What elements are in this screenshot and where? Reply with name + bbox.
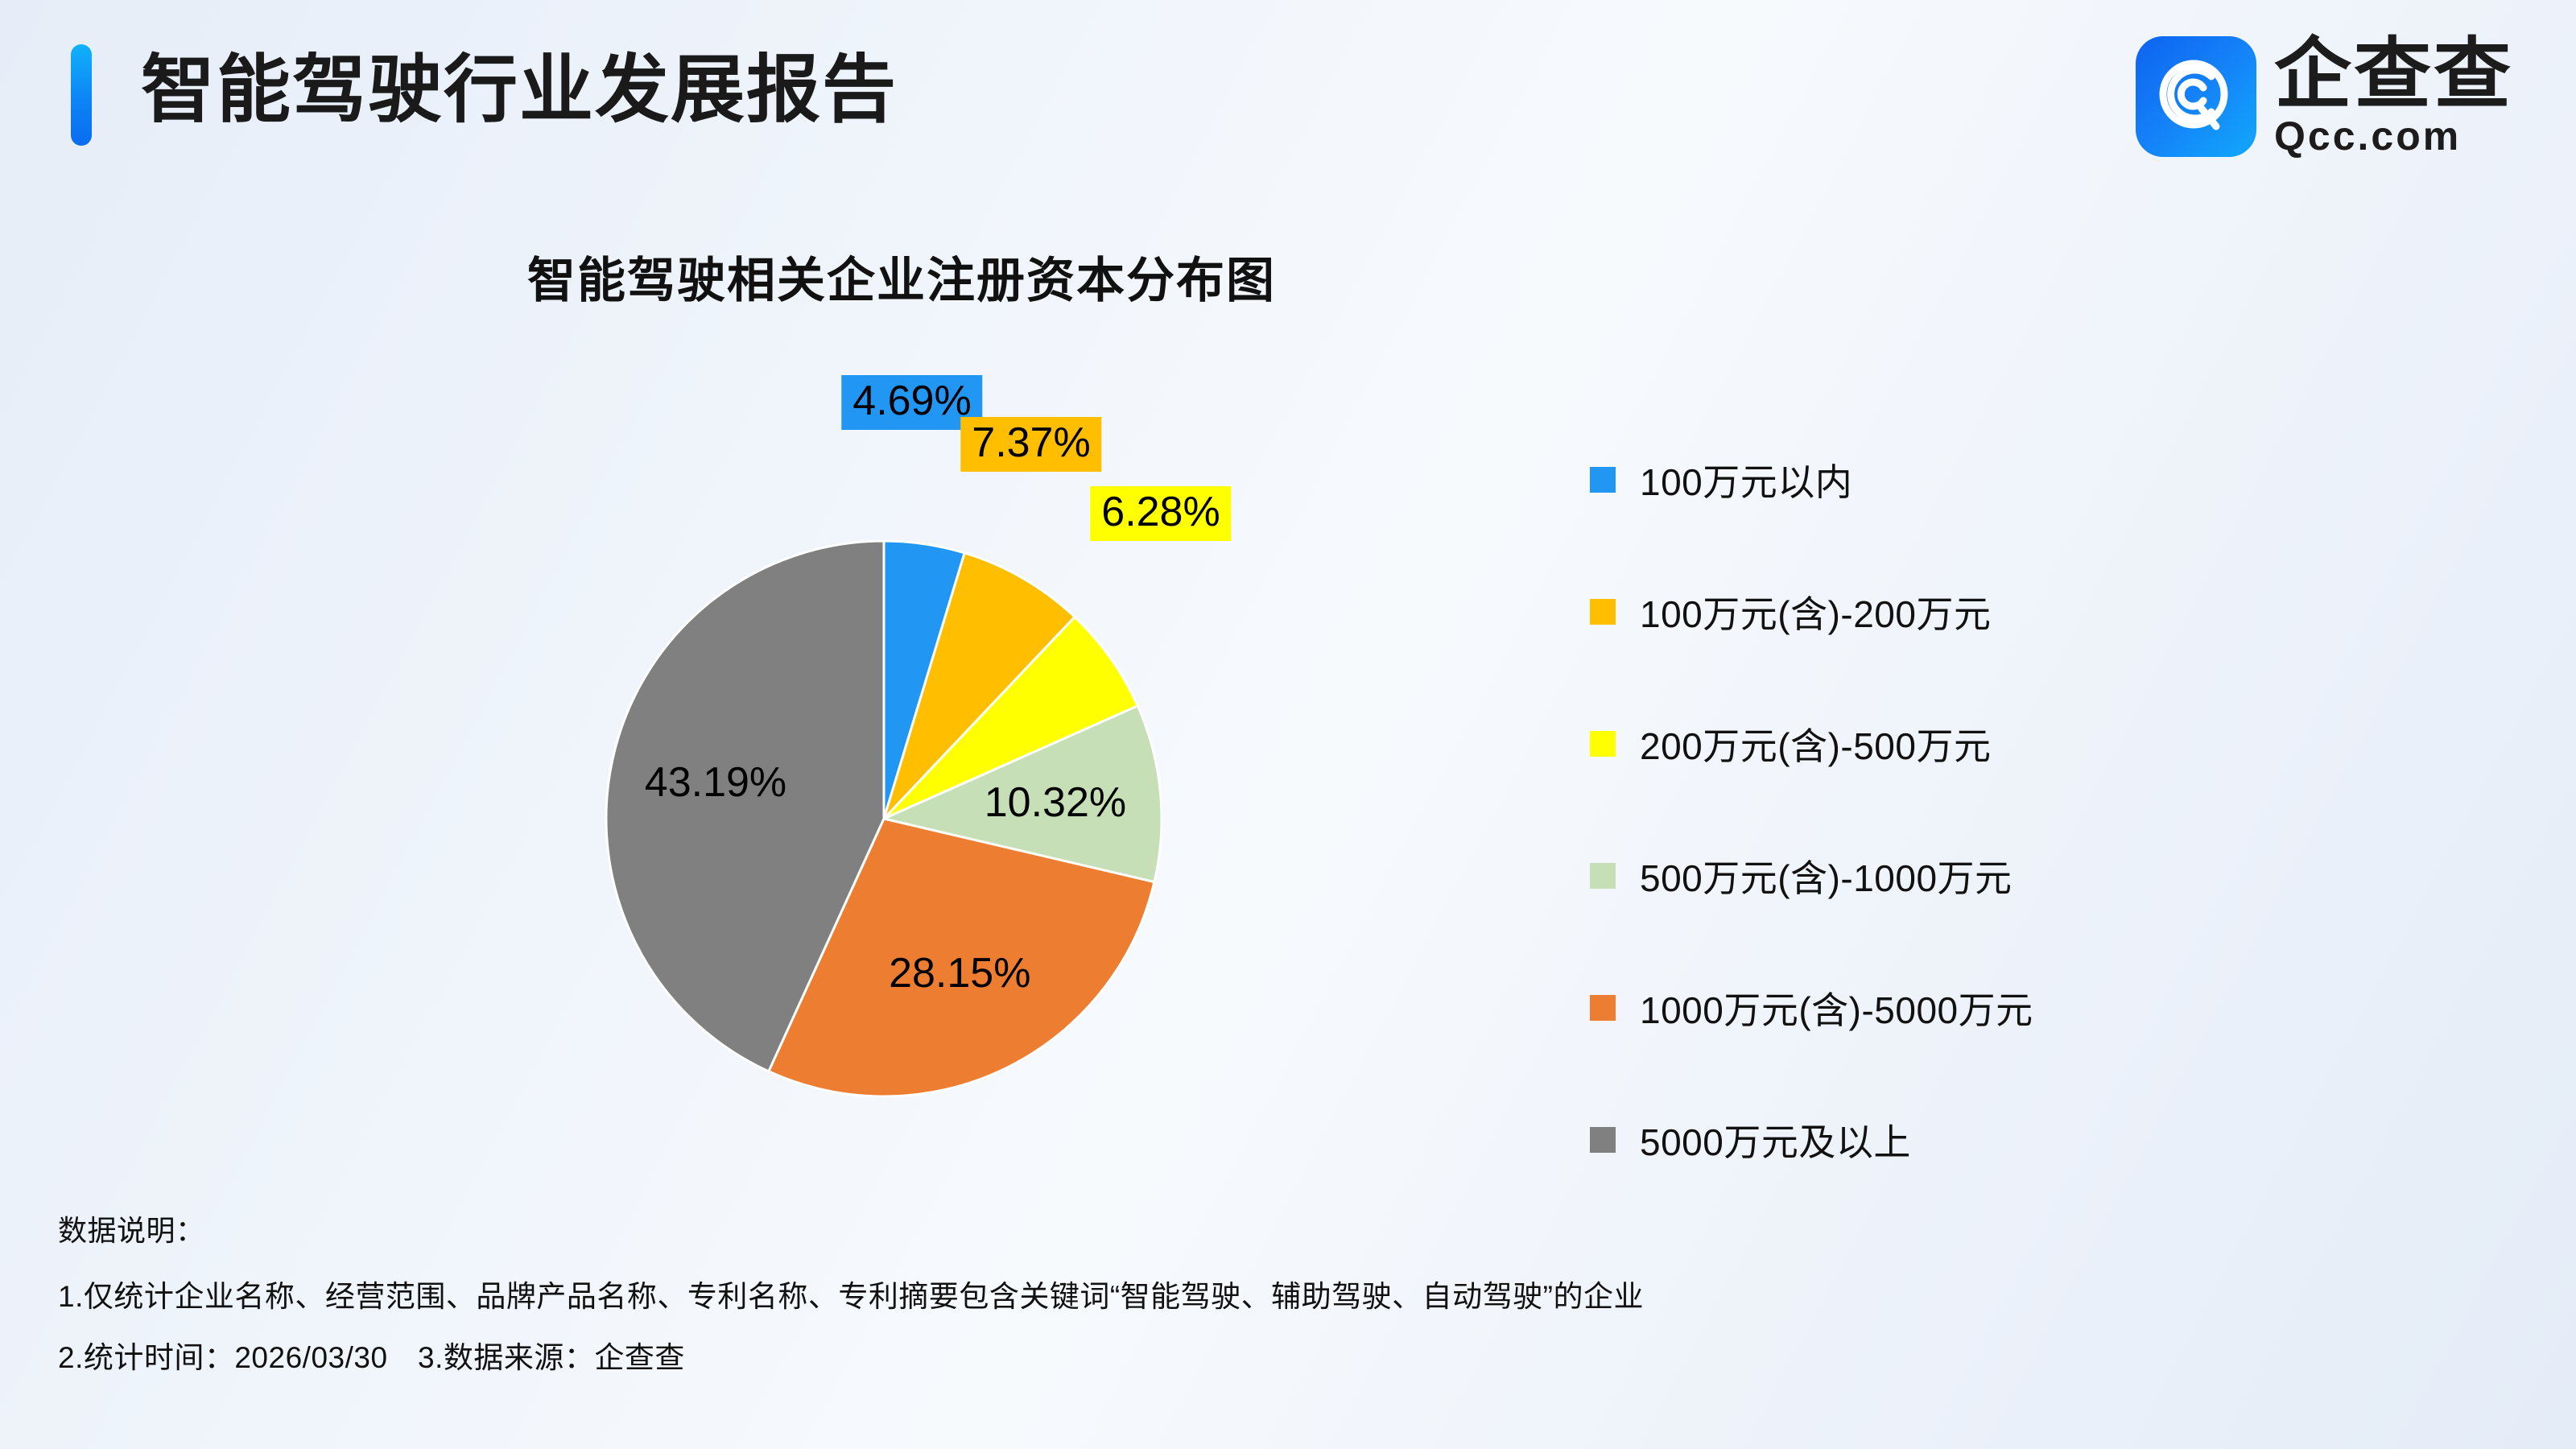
data-notes: 数据说明： 1.仅统计企业名称、经营范围、品牌产品名称、专利名称、专利摘要包含关… <box>58 1207 2513 1394</box>
legend-item[interactable]: 1000万元(含)-5000万元 <box>1590 975 2033 1041</box>
legend-swatch-icon <box>1590 599 1616 625</box>
brand-name-en: Qcc.com <box>2274 114 2461 158</box>
brand-logo-text: 企查查 Qcc.com <box>2274 35 2513 158</box>
brand-name-cn: 企查查 <box>2274 35 2513 114</box>
legend-label: 200万元(含)-500万元 <box>1640 717 1991 770</box>
pie-slice-label: 6.28% <box>1090 486 1231 541</box>
legend-item[interactable]: 100万元(含)-200万元 <box>1590 579 2033 645</box>
legend-label: 100万元以内 <box>1640 453 1852 506</box>
legend-item[interactable]: 5000万元及以上 <box>1590 1107 2033 1173</box>
chart-legend: 100万元以内100万元(含)-200万元200万元(含)-500万元500万元… <box>1590 447 2033 1239</box>
legend-label: 1000万元(含)-5000万元 <box>1640 981 2033 1034</box>
pie-slice-label: 28.15% <box>889 949 1030 997</box>
qcc-logo-icon <box>2136 36 2256 157</box>
brand-logo: 企查查 Qcc.com <box>2136 35 2513 158</box>
legend-swatch-icon <box>1590 863 1616 889</box>
legend-label: 100万元(含)-200万元 <box>1640 585 1991 638</box>
legend-swatch-icon <box>1590 467 1616 493</box>
legend-swatch-icon <box>1590 995 1616 1021</box>
pie-slice-label: 43.19% <box>645 758 786 807</box>
notes-heading: 数据说明： <box>58 1207 2513 1249</box>
chart-title: 智能驾驶相关企业注册资本分布图 <box>0 242 1803 312</box>
legend-item[interactable]: 200万元(含)-500万元 <box>1590 711 2033 777</box>
legend-swatch-icon <box>1590 731 1616 757</box>
pie-slice-label: 7.37% <box>960 417 1101 472</box>
pie-slice-label: 10.32% <box>985 778 1126 827</box>
legend-swatch-icon <box>1590 1127 1616 1153</box>
page-title: 智能驾驶行业发展报告 <box>141 40 898 140</box>
page-header: 智能驾驶行业发展报告 企查查 Qcc.com <box>0 0 2576 185</box>
note-line: 2.统计时间：2026/03/30 3.数据来源：企查查 <box>58 1333 2513 1377</box>
legend-label: 5000万元及以上 <box>1640 1113 1911 1166</box>
note-line: 1.仅统计企业名称、经营范围、品牌产品名称、专利名称、专利摘要包含关键词“智能驾… <box>58 1272 2513 1315</box>
title-accent-bar <box>71 44 92 146</box>
legend-label: 500万元(含)-1000万元 <box>1640 849 2013 902</box>
legend-item[interactable]: 500万元(含)-1000万元 <box>1590 843 2033 909</box>
legend-item[interactable]: 100万元以内 <box>1590 447 2033 513</box>
